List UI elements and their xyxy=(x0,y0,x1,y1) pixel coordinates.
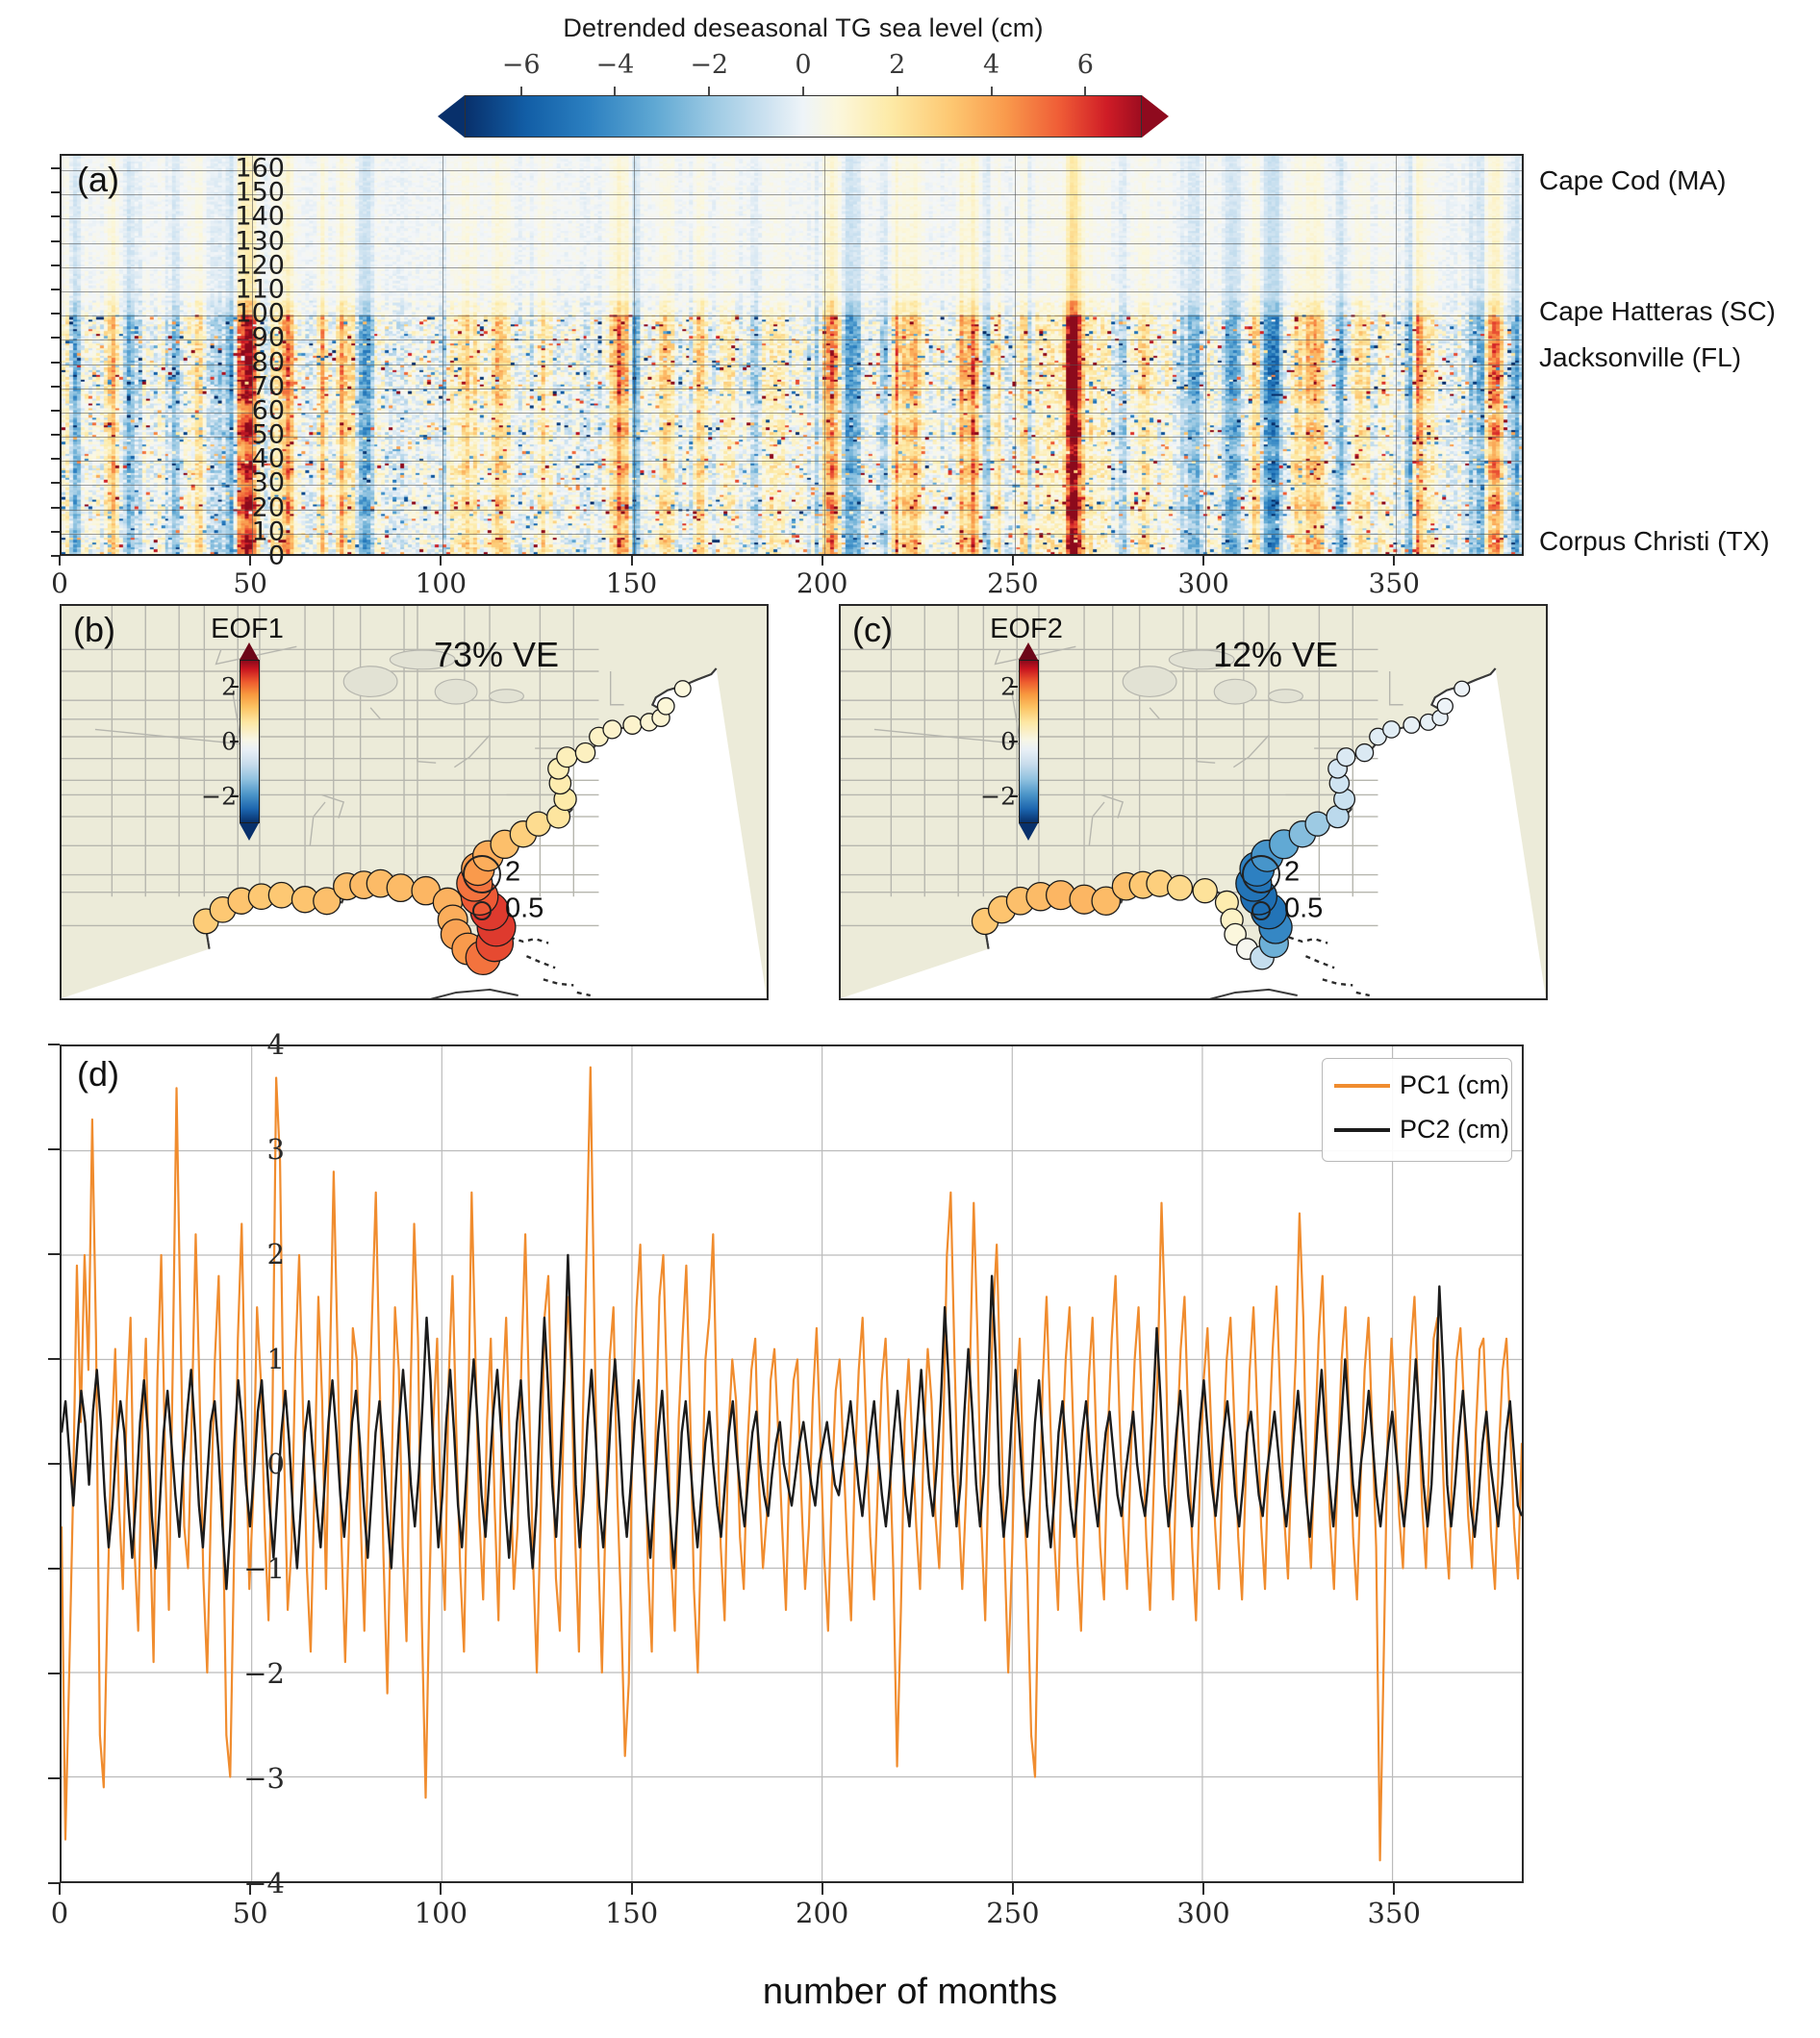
colorbar-extend-min-arrow xyxy=(438,95,465,138)
site-marker-39[interactable] xyxy=(1454,681,1470,696)
panel-d-xtick-label-2: 100 xyxy=(415,1897,468,1929)
eof2-colorbar-bar xyxy=(1019,660,1039,823)
panel-a-ytick-mark-3 xyxy=(51,482,60,484)
panel-d-xtick-mark-5 xyxy=(1012,1883,1014,1895)
panel-d-xtick-label-7: 350 xyxy=(1368,1897,1421,1929)
site-marker-11[interactable] xyxy=(1193,879,1217,903)
colorbar-tick-mark-3 xyxy=(802,87,804,95)
panel-d-tag: (d) xyxy=(77,1054,119,1094)
panel-a-tag: (a) xyxy=(77,160,119,200)
site-marker-31[interactable] xyxy=(557,747,577,767)
eof1-title: EOF1 xyxy=(211,614,284,645)
colorbar-tick-label-6: 6 xyxy=(1077,50,1094,80)
colorbar-extend-max-arrow xyxy=(1142,95,1169,138)
panel-d-xtick-mark-1 xyxy=(249,1883,251,1895)
eof2-title: EOF2 xyxy=(990,614,1063,645)
eof1-size-legend: 20.5 xyxy=(461,851,615,938)
panel-a-xtick-mark-7 xyxy=(1393,556,1395,566)
main-colorbar: Detrended deseasonal TG sea level (cm) −… xyxy=(438,13,1169,129)
panel-d-xtick-mark-7 xyxy=(1393,1883,1395,1895)
colorbar-tick-mark-5 xyxy=(991,87,993,95)
panel-a-site-label-1: Cape Hatteras (SC) xyxy=(1539,296,1776,327)
colorbar-tick-label-3: 0 xyxy=(795,50,811,80)
panel-d-xtick-label-4: 200 xyxy=(796,1897,848,1929)
eof2-colorbar-tick-label-0: 2 xyxy=(1000,673,1016,701)
eof1-size-legend-circle-0 xyxy=(463,855,501,893)
panel-a-ytick-mark-16 xyxy=(51,167,60,169)
colorbar-tick-label-5: 4 xyxy=(983,50,999,80)
panel-d-ytick-label-3: −1 xyxy=(198,1552,285,1585)
colorbar-tick-labels: −6−4−20246 xyxy=(438,50,1169,83)
panel-d-xtick-mark-0 xyxy=(59,1883,61,1895)
eof1-colorbar-bar xyxy=(240,660,260,823)
panel-a-ytick-mark-9 xyxy=(51,337,60,339)
panel-d-ytick-mark-1 xyxy=(48,1777,60,1779)
colorbar-title: Detrended deseasonal TG sea level (cm) xyxy=(438,13,1169,43)
panel-d-ytick-mark-6 xyxy=(48,1253,60,1255)
panel-a-ytick-mark-10 xyxy=(51,313,60,315)
panel-a-ytick-mark-7 xyxy=(51,386,60,388)
panel-d-ytick-label-4: 0 xyxy=(198,1447,285,1480)
colorbar-tick-label-2: −2 xyxy=(690,50,728,80)
panel-a-xtick-mark-1 xyxy=(249,556,251,566)
panel-d-ytick-label-6: 2 xyxy=(198,1238,285,1271)
panel-a-gridline-v-2 xyxy=(442,156,443,554)
panel-a-xtick-label-1: 50 xyxy=(233,567,267,599)
panel-d-xtick-label-3: 150 xyxy=(605,1897,658,1929)
panel-a-gridline-v-7 xyxy=(1396,156,1397,554)
eof2-map-svg xyxy=(841,606,1546,998)
panel-a-xtick-label-2: 100 xyxy=(416,567,467,599)
pc-legend: PC1 (cm)PC2 (cm) xyxy=(1322,1058,1512,1162)
panel-d-ytick-mark-7 xyxy=(48,1148,60,1150)
colorbar-tick-marks xyxy=(438,87,1169,95)
panel-a-xtick-label-0: 0 xyxy=(51,567,68,599)
site-marker-38[interactable] xyxy=(658,698,675,715)
panel-a-xtick-label-3: 150 xyxy=(606,567,657,599)
eof1-size-legend-label-0: 2 xyxy=(505,857,520,889)
eof2-size-legend: 20.5 xyxy=(1240,851,1394,938)
panel-a-xtick-mark-5 xyxy=(1012,556,1014,566)
colorbar-tick-label-0: −6 xyxy=(502,50,541,80)
panel-a-ytick-mark-15 xyxy=(51,191,60,193)
panel-a-site-label-3: Corpus Christi (TX) xyxy=(1539,526,1770,557)
colorbar-tick-mark-0 xyxy=(520,87,522,95)
site-marker-38[interactable] xyxy=(1437,698,1453,714)
colorbar-tick-mark-2 xyxy=(708,87,710,95)
panel-a-ytick-mark-1 xyxy=(51,531,60,533)
eof2-size-legend-label-0: 2 xyxy=(1284,857,1300,889)
pc-legend-label-1: PC1 (cm) xyxy=(1400,1069,1509,1101)
eof2-variance-explained: 12% VE xyxy=(1213,635,1338,675)
panel-d-xtick-label-1: 50 xyxy=(233,1897,268,1929)
panel-a-xtick-label-7: 350 xyxy=(1369,567,1420,599)
panel-a-site-label-2: Jacksonville (FL) xyxy=(1539,342,1741,373)
panel-b-eof1-map: (b) EOF1 73% VE 20−2 20.5 xyxy=(60,604,769,1000)
site-marker-4[interactable] xyxy=(268,882,294,907)
panel-a-ytick-mark-6 xyxy=(51,410,60,412)
panel-a-xtick-label-4: 200 xyxy=(796,567,847,599)
panel-a-gridline-v-5 xyxy=(1015,156,1016,554)
panel-d-xtick-mark-3 xyxy=(631,1883,633,1895)
panel-d-xtick-label-5: 250 xyxy=(986,1897,1039,1929)
panel-d-ytick-mark-4 xyxy=(48,1463,60,1465)
panel-a-xtick-mark-3 xyxy=(631,556,633,566)
panel-d-ytick-label-1: −3 xyxy=(198,1762,285,1795)
panel-d-xtick-label-6: 300 xyxy=(1176,1897,1229,1929)
panel-a-ytick-mark-5 xyxy=(51,434,60,436)
eof1-colorbar-tick-label-1: 0 xyxy=(221,728,237,756)
site-marker-34[interactable] xyxy=(1383,721,1401,738)
panel-d-ytick-label-5: 1 xyxy=(198,1343,285,1375)
panel-a-ytick-mark-8 xyxy=(51,362,60,364)
panel-a-xtick-label-6: 300 xyxy=(1177,567,1228,599)
panel-a-ytick-mark-11 xyxy=(51,289,60,290)
panel-a-ytick-mark-12 xyxy=(51,264,60,266)
eof1-map-svg xyxy=(62,606,767,998)
site-marker-10[interactable] xyxy=(387,874,415,902)
panel-a-ytick-label-16: 160 xyxy=(169,154,285,184)
panel-a-ytick-mark-4 xyxy=(51,458,60,460)
eof1-colorbar-tick-label-2: −2 xyxy=(201,782,237,810)
panel-d-ytick-mark-3 xyxy=(48,1568,60,1570)
site-marker-31[interactable] xyxy=(1337,748,1355,767)
eof2-size-legend-circle-1 xyxy=(1251,901,1271,920)
site-marker-34[interactable] xyxy=(603,720,621,739)
eof2-colorbar: 20−2 xyxy=(1019,642,1039,841)
panel-a-gridline-v-6 xyxy=(1205,156,1206,554)
eof2-size-legend-circle-0 xyxy=(1242,855,1280,893)
site-marker-10[interactable] xyxy=(1168,875,1193,900)
colorbar-tick-mark-1 xyxy=(614,87,616,95)
panel-d-xtick-mark-2 xyxy=(440,1883,442,1895)
site-marker-35[interactable] xyxy=(1403,717,1420,734)
panel-a-xtick-mark-6 xyxy=(1202,556,1204,566)
panel-d-ytick-mark-2 xyxy=(48,1673,60,1674)
eof2-colorbar-tick-label-2: −2 xyxy=(980,782,1016,810)
panel-a-xtick-mark-2 xyxy=(440,556,442,566)
pc-legend-line-1 xyxy=(1334,1084,1390,1088)
colorbar-tick-label-4: 2 xyxy=(889,50,905,80)
colorbar-tick-mark-4 xyxy=(897,87,898,95)
eof1-size-legend-circle-1 xyxy=(472,901,492,920)
site-marker-39[interactable] xyxy=(674,681,691,697)
panel-d-ytick-mark-8 xyxy=(48,1044,60,1045)
panel-a-ytick-mark-2 xyxy=(51,507,60,509)
panel-a-xtick-mark-0 xyxy=(59,556,61,566)
panel-d-ytick-mark-5 xyxy=(48,1358,60,1360)
panel-d-xtick-mark-6 xyxy=(1202,1883,1204,1895)
panel-d-xtick-mark-4 xyxy=(822,1883,823,1895)
colorbar-gradient xyxy=(465,95,1142,138)
panel-d-ytick-label-8: 4 xyxy=(198,1028,285,1061)
panel-a-xtick-label-5: 250 xyxy=(987,567,1038,599)
eof2-colorbar-tick-label-1: 0 xyxy=(1000,728,1016,756)
colorbar-tick-label-1: −4 xyxy=(596,50,635,80)
eof2-colorbar-min-arrow xyxy=(1019,823,1038,841)
panel-a-site-label-0: Cape Cod (MA) xyxy=(1539,165,1727,196)
panel-d-ytick-label-2: −2 xyxy=(198,1657,285,1690)
eof1-size-legend-label-1: 0.5 xyxy=(505,893,543,925)
eof1-colorbar: 20−2 xyxy=(240,642,260,841)
figure-root: Detrended deseasonal TG sea level (cm) −… xyxy=(0,0,1820,2038)
panel-d-ytick-label-7: 3 xyxy=(198,1133,285,1166)
panel-a-xtick-mark-4 xyxy=(822,556,823,566)
panel-a-ytick-mark-14 xyxy=(51,215,60,217)
eof1-colorbar-min-arrow xyxy=(240,823,259,841)
panel-b-tag: (b) xyxy=(73,610,115,650)
site-marker-35[interactable] xyxy=(623,717,642,735)
panel-a-gridline-v-3 xyxy=(634,156,635,554)
panel-d-xtick-label-0: 0 xyxy=(51,1897,68,1929)
panel-c-tag: (c) xyxy=(852,610,893,650)
panel-d-xlabel: number of months xyxy=(0,1972,1820,2013)
colorbar-gradient-body xyxy=(438,95,1169,138)
site-marker-26[interactable] xyxy=(1305,812,1329,836)
site-marker-32[interactable] xyxy=(575,743,594,763)
colorbar-tick-mark-6 xyxy=(1084,87,1086,95)
site-marker-32[interactable] xyxy=(1355,744,1373,762)
eof1-variance-explained: 73% VE xyxy=(434,635,559,675)
pc-legend-line-2 xyxy=(1334,1128,1390,1132)
panel-a-ytick-mark-13 xyxy=(51,240,60,242)
panel-d-ytick-label-0: −4 xyxy=(198,1867,285,1900)
eof2-size-legend-label-1: 0.5 xyxy=(1284,893,1323,925)
eof1-colorbar-tick-label-0: 2 xyxy=(221,673,237,701)
panel-a-gridline-v-4 xyxy=(824,156,825,554)
panel-c-eof2-map: (c) EOF2 12% VE 20−2 20.5 xyxy=(839,604,1548,1000)
pc-legend-label-2: PC2 (cm) xyxy=(1400,1113,1509,1145)
